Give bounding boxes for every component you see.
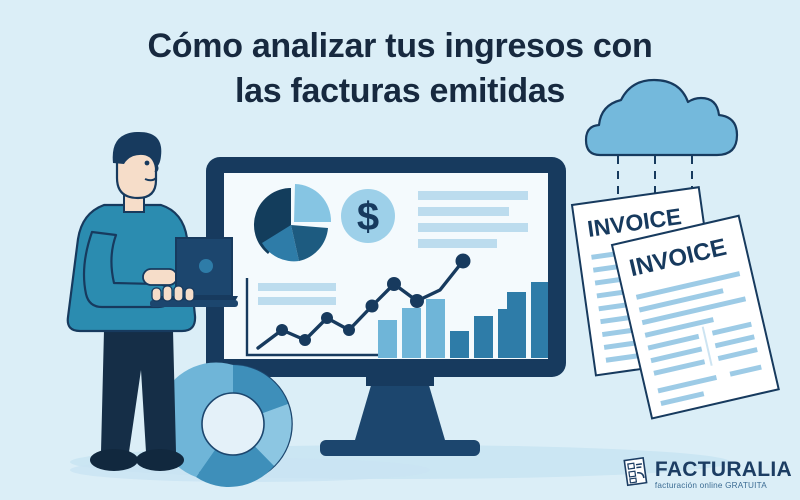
dollar-coin-icon: $ [341,189,395,243]
svg-text:$: $ [357,195,379,239]
facturalia-logo[interactable]: FACTURALIA facturación online GRATUITA [623,457,792,492]
donut-hole [202,393,264,455]
bar-4 [474,316,493,358]
person-shoe-left [90,449,138,471]
monitor-base [320,440,480,456]
bar-1 [402,308,421,358]
laptop-keyboard-edge [150,300,238,307]
logo-tagline: facturación online GRATUITA [655,482,792,490]
illustration-canvas: INVOICE INVOICE [0,0,800,500]
invoice-document-icon [623,457,649,492]
bar-0 [378,320,397,358]
logo-name: FACTURALIA [655,459,792,480]
bar-2 [426,299,445,358]
person-eye [145,161,150,166]
bar-3 [450,331,469,358]
bar-7 [531,282,550,358]
person-shoe-right [136,449,184,471]
person-hand [143,269,177,285]
bar-6b [507,292,526,358]
laptop-logo [199,259,213,273]
